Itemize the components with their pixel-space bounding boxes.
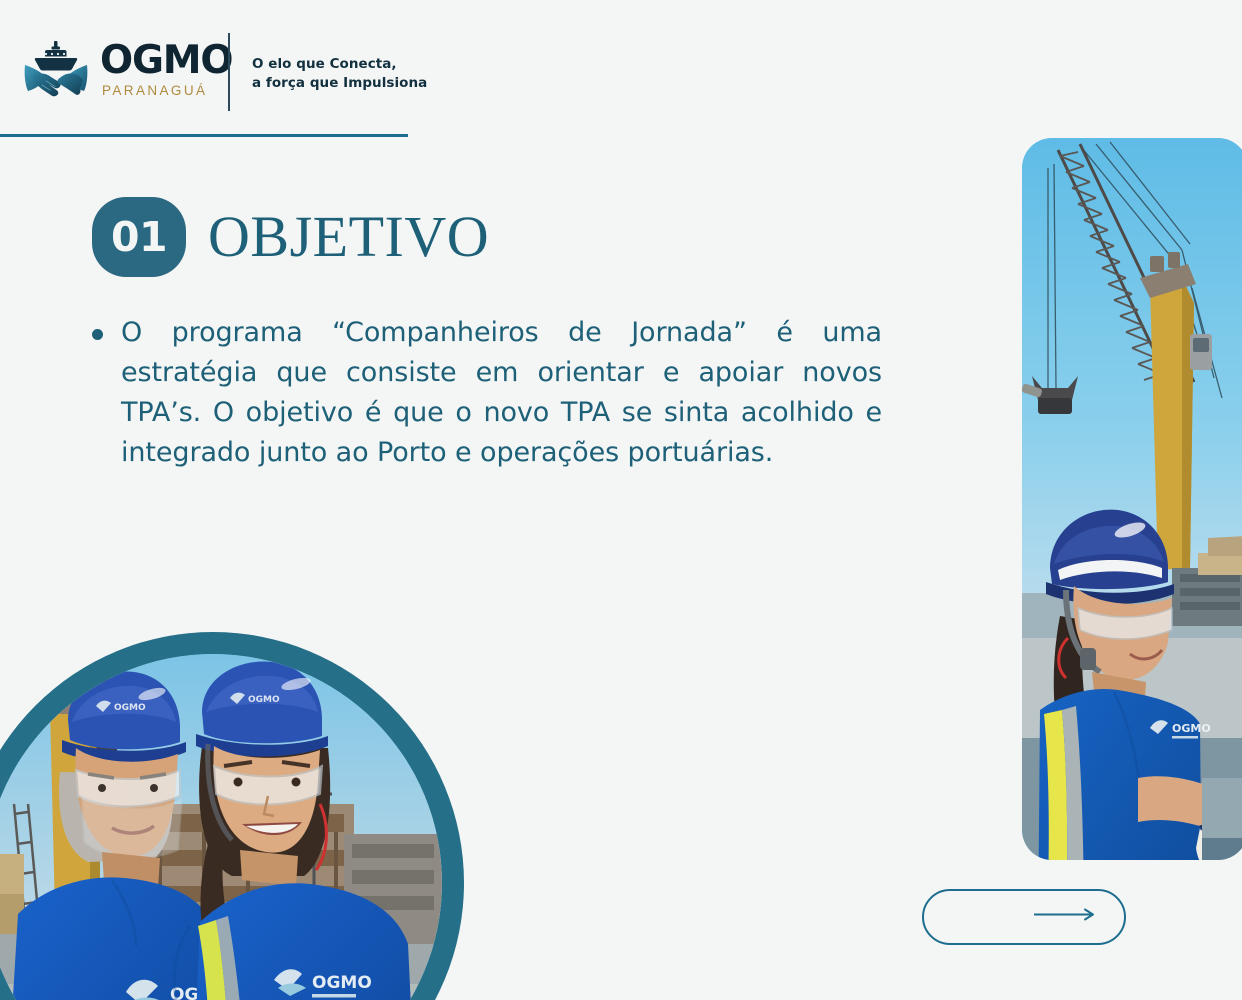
next-button[interactable] [922, 889, 1126, 945]
brand-lockup: OGMO PARANAGUÁ [24, 30, 232, 110]
header-underline-rule [0, 134, 408, 137]
list-item: O programa “Companheiros de Jornada” é u… [92, 313, 882, 473]
svg-text:OGMO: OGMO [1172, 722, 1211, 735]
content-body: O programa “Companheiros de Jornada” é u… [92, 313, 882, 473]
arrow-right-icon [1033, 907, 1099, 928]
svg-text:OGMO: OGMO [312, 973, 372, 993]
section-title: 01 OBJETIVO [92, 197, 489, 277]
brand-subtitle: PARANAGUÁ [102, 83, 232, 98]
bullet-dot-icon [92, 329, 103, 340]
section-number: 01 [111, 213, 167, 261]
section-number-badge: 01 [92, 197, 186, 277]
brand-tagline: O elo que Conecta, a força que Impulsion… [252, 55, 427, 93]
brand-divider [228, 33, 230, 111]
tagline-line-2: a força que Impulsiona [252, 74, 427, 93]
brand-name: OGMO [100, 42, 232, 79]
svg-text:OGMO: OGMO [114, 703, 146, 713]
tagline-line-1: O elo que Conecta, [252, 55, 427, 74]
brand-wordmark: OGMO PARANAGUÁ [100, 39, 232, 101]
slide-root: OGMO PARANAGUÁ O elo que Conecta, a forç… [0, 0, 1242, 1000]
slide-header: OGMO PARANAGUÁ O elo que Conecta, a forç… [0, 0, 1242, 140]
ogmo-ship-handshake-logo-icon [24, 39, 88, 101]
svg-text:OGMO: OGMO [248, 695, 280, 705]
page-title: OBJETIVO [208, 208, 489, 266]
bullet-text: O programa “Companheiros de Jornada” é u… [121, 313, 882, 473]
port-worker-crane-photo: OGMO [1022, 138, 1242, 860]
two-port-workers-photo: OGMO [0, 632, 464, 1000]
